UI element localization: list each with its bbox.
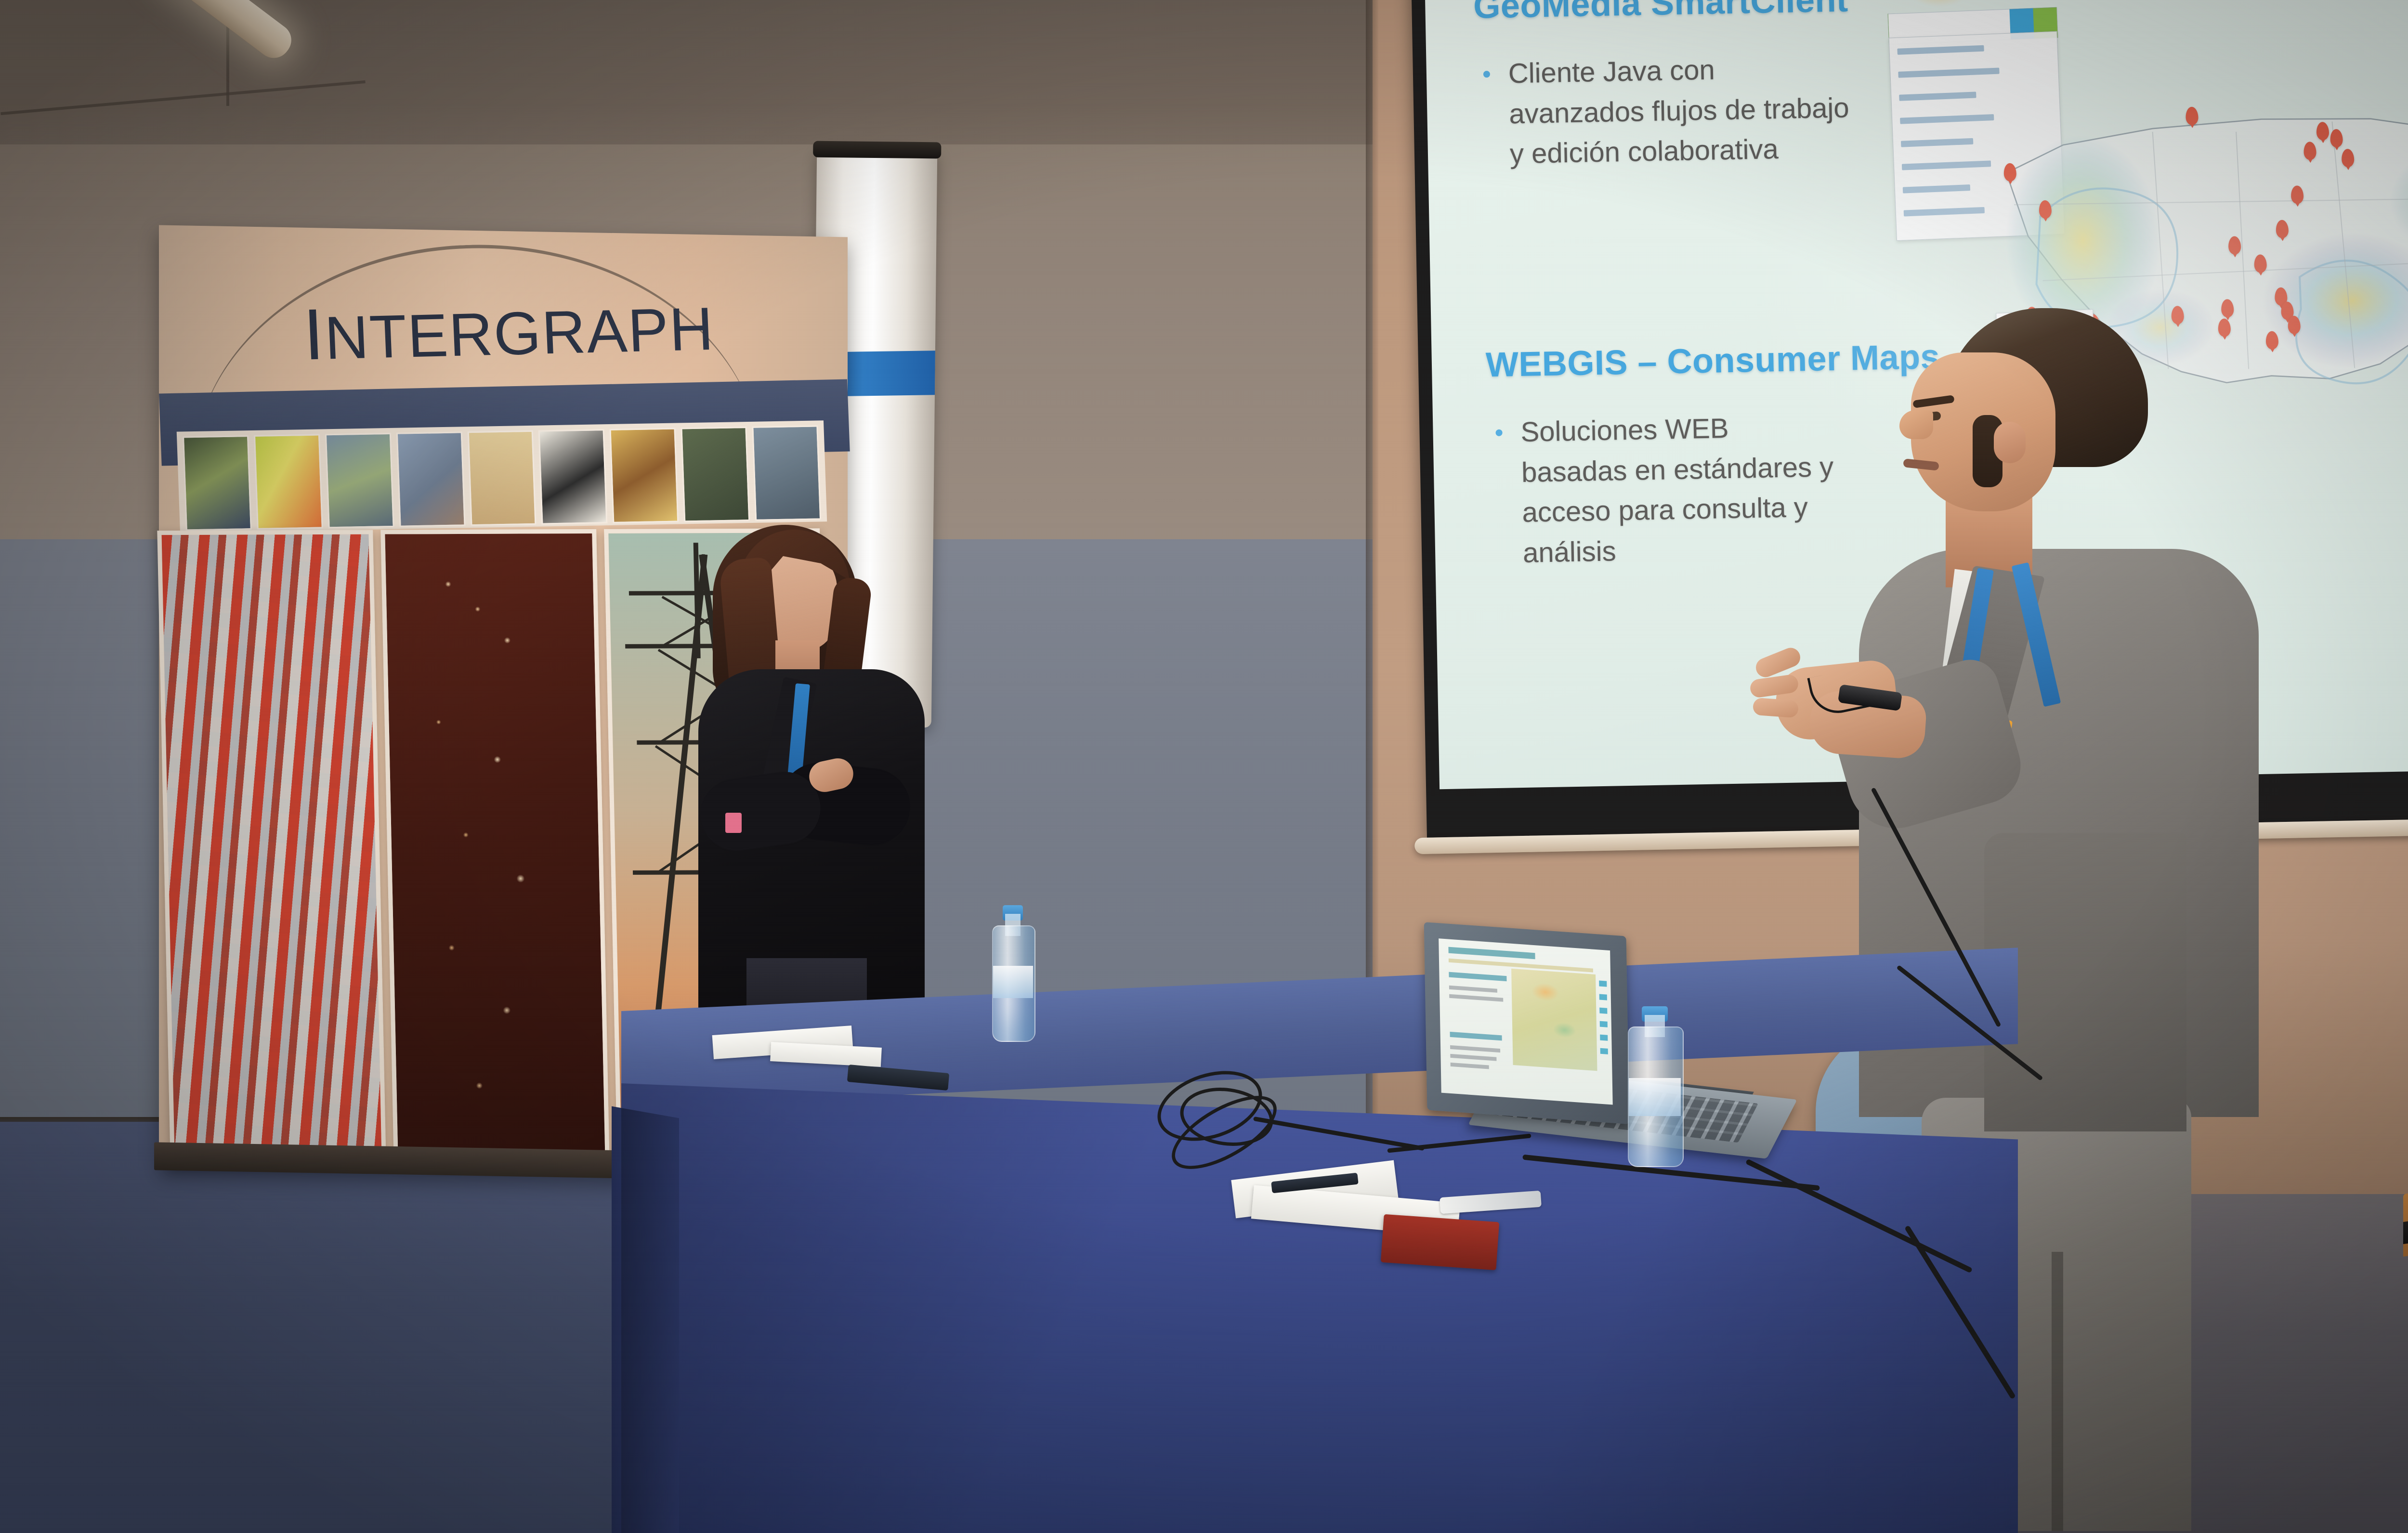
laptop-screen xyxy=(1439,938,1613,1104)
mini-text xyxy=(1451,1063,1489,1069)
banner-thumb xyxy=(254,434,323,529)
banner-thumb xyxy=(396,431,465,527)
presentation-photo-scene: GeoMedia SmartClient Cliente Java con av… xyxy=(0,0,2408,1533)
mini-text xyxy=(1449,994,1503,1002)
layer-row xyxy=(1897,45,1984,55)
banner-thumb xyxy=(681,427,750,522)
slide-heading-geomedia: GeoMedia SmartClient xyxy=(1473,0,1849,26)
slide-bullet-text-geomedia: Cliente Java con avanzados flujos de tra… xyxy=(1508,47,1857,174)
ear xyxy=(1994,422,2026,463)
mini-map xyxy=(1511,969,1597,1071)
red-case xyxy=(1381,1214,1499,1270)
mini-heading xyxy=(1449,972,1506,981)
side-desk xyxy=(2403,1194,2408,1531)
bottle-label xyxy=(1629,1078,1681,1116)
laptop-lid xyxy=(1424,922,1630,1124)
laptop xyxy=(1426,929,1811,1156)
banner-thumb xyxy=(467,430,537,526)
mini-swatch xyxy=(1600,1035,1608,1041)
mini-swatch xyxy=(1599,981,1607,987)
slide-bullet-icon xyxy=(1495,429,1502,436)
banner-thumbnail-strip xyxy=(177,420,827,533)
mini-swatch xyxy=(1599,1008,1607,1014)
water-bottle-small xyxy=(992,905,1034,1040)
banner-thumb xyxy=(325,433,394,528)
banner-thumb xyxy=(183,435,252,531)
banner-panel-night-traffic xyxy=(380,529,610,1166)
mini-slide-title xyxy=(1448,947,1535,960)
mini-swatch xyxy=(1600,1021,1608,1027)
banner-thumb xyxy=(610,428,679,523)
slide-bullet-icon xyxy=(1483,71,1490,78)
pink-badge xyxy=(725,813,742,833)
finger xyxy=(1753,698,1799,718)
mini-swatch xyxy=(1600,1048,1608,1054)
banner-panel-aerial-infrared xyxy=(157,530,386,1167)
banner-wordmark-lead: I xyxy=(302,294,327,375)
nose xyxy=(1899,410,1933,439)
layer-row xyxy=(1903,184,1970,193)
mini-text xyxy=(1449,986,1497,993)
bottle-label xyxy=(993,966,1033,998)
mini-text xyxy=(1450,1045,1500,1052)
column-cap xyxy=(813,141,941,159)
table-side xyxy=(612,1106,679,1533)
banner-wordmark-rest: NTERGRAPH xyxy=(323,295,715,372)
mini-heading xyxy=(1450,1032,1502,1041)
banner-thumb xyxy=(538,429,608,524)
mini-text xyxy=(1450,1054,1496,1061)
water-bottle-large xyxy=(1628,1006,1682,1165)
leg-seam xyxy=(2052,1252,2063,1531)
mini-swatch xyxy=(1599,994,1607,1000)
person-attendee xyxy=(689,525,958,1045)
banner-wordmark: INTERGRAPH xyxy=(302,283,716,377)
slide-bullet-text-webgis: Soluciones WEB basadas en estándares y a… xyxy=(1520,406,1841,573)
banner-thumb xyxy=(752,425,821,520)
